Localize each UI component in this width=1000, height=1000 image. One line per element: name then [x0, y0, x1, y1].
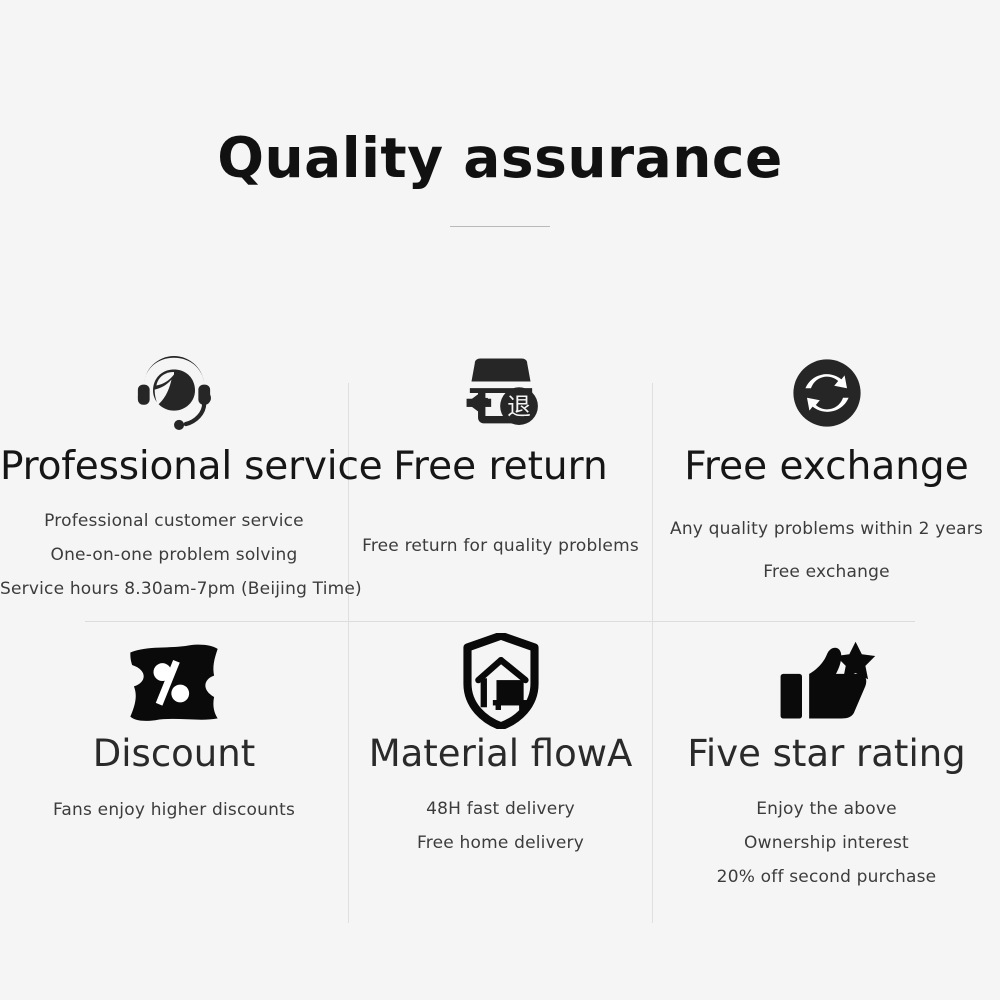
feature-description: Any quality problems within 2 years Free… — [653, 504, 1000, 589]
feature-description-line: Enjoy the above — [653, 792, 1000, 826]
thumbs-up-star-icon — [653, 633, 1000, 729]
feature-description-line: Free exchange — [653, 555, 1000, 589]
feature-description-line: 48H fast delivery — [349, 792, 652, 826]
feature-card-five-star-rating[interactable]: Five star rating Enjoy the above Ownersh… — [653, 633, 1000, 894]
discount-coupon-percent-icon — [0, 633, 348, 729]
feature-description-line: Free home delivery — [349, 826, 652, 860]
feature-description: Free return for quality problems — [349, 504, 652, 589]
return-badge-character: 退 — [507, 392, 531, 420]
feature-description-line: Fans enjoy higher discounts — [0, 792, 348, 829]
return-box-arrow-icon: 退 — [349, 345, 652, 441]
feature-title: Free exchange — [653, 447, 1000, 488]
feature-description: Enjoy the above Ownership interest 20% o… — [653, 792, 1000, 894]
feature-card-free-exchange[interactable]: Free exchange Any quality problems withi… — [653, 345, 1000, 589]
feature-title: Free return — [349, 447, 652, 488]
feature-card-material-flow[interactable]: Material flowA 48H fast delivery Free ho… — [349, 633, 652, 860]
feature-description: 48H fast delivery Free home delivery — [349, 792, 652, 860]
feature-description-line: One-on-one problem solving — [0, 538, 348, 572]
feature-card-free-return[interactable]: 退 Free return Free return for quality pr… — [349, 345, 652, 589]
page-header: Quality assurance — [0, 131, 1000, 227]
grid-divider-horizontal — [85, 621, 915, 622]
feature-title: Five star rating — [653, 735, 1000, 774]
feature-description-line: Any quality problems within 2 years — [653, 504, 1000, 555]
feature-description: Professional customer service One-on-one… — [0, 504, 348, 606]
feature-description-line: Free return for quality problems — [349, 504, 652, 589]
page-title: Quality assurance — [0, 131, 1000, 186]
feature-description-line: Professional customer service — [0, 504, 348, 538]
customer-service-headset-icon — [0, 345, 348, 441]
feature-description-line: Ownership interest — [653, 826, 1000, 860]
feature-title: Discount — [0, 735, 348, 774]
feature-description: Fans enjoy higher discounts — [0, 792, 348, 829]
exchange-refresh-circle-icon — [653, 345, 1000, 441]
feature-card-discount[interactable]: Discount Fans enjoy higher discounts — [0, 633, 348, 829]
feature-description-line: 20% off second purchase — [653, 860, 1000, 894]
feature-grid: Professional service Professional custom… — [0, 345, 1000, 945]
feature-card-professional-service[interactable]: Professional service Professional custom… — [0, 345, 348, 606]
feature-title: Material flowA — [349, 735, 652, 774]
shield-house-truck-icon — [349, 633, 652, 729]
quality-assurance-page: Quality assurance Professional s — [0, 0, 1000, 1000]
feature-description-line: Service hours 8.30am-7pm (Beijing Time) — [0, 572, 348, 606]
title-divider — [450, 226, 550, 227]
feature-title: Professional service — [0, 447, 348, 488]
